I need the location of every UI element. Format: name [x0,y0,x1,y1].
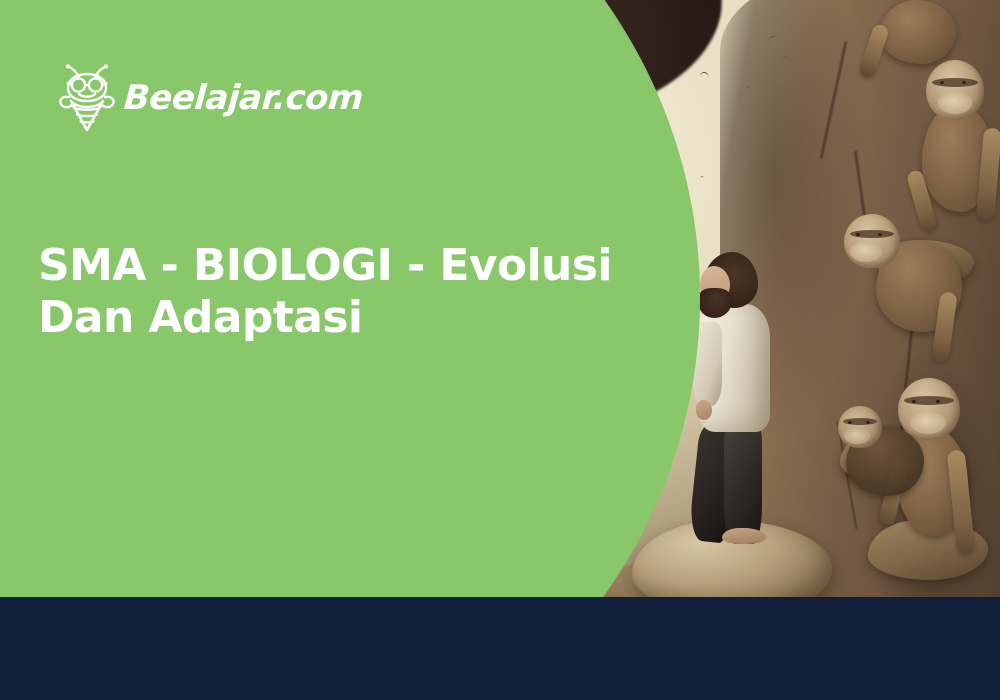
human-leg-front [724,420,762,544]
logo[interactable]: Beelajar.com [58,62,363,134]
course-banner: Beelajar.com SMA - BIOLOGI - Evolusi Dan… [0,0,1000,700]
human-hand [696,400,712,420]
monkey-figure [866,0,976,70]
page-title: SMA - BIOLOGI - Evolusi Dan Adaptasi [38,240,658,344]
logo-wordmark: Beelajar.com [123,81,364,115]
bird-icon [700,176,704,179]
monkey-figure [840,200,970,370]
bee-icon [58,63,116,133]
human-foot [722,528,766,544]
monkey-figure [838,400,938,540]
human-figure [690,252,800,552]
footer-bar [0,597,1000,700]
